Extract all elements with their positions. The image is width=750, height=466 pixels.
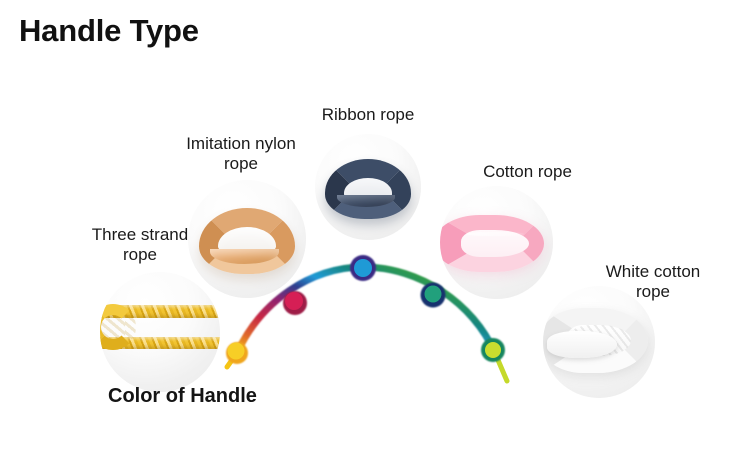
handle-color-arc — [215, 255, 535, 395]
label-line-1: White cotton — [578, 262, 728, 282]
color-node-crimson[interactable] — [283, 291, 307, 315]
label-ribbon-rope: Ribbon rope — [300, 105, 436, 125]
label-white-cotton-rope: White cotton rope — [578, 262, 728, 302]
handle-type-infographic: Handle Type Three strand rope Imitation … — [0, 0, 750, 466]
navy-ribbon-loop-graphic — [325, 159, 412, 218]
navy-ribbon-rope-photo — [315, 134, 421, 240]
color-node-teal[interactable] — [421, 283, 446, 308]
color-arc-svg — [215, 255, 535, 395]
white-cotton-rope-photo — [543, 286, 655, 398]
three-strand-gold-rope-photo — [100, 272, 220, 392]
page-title: Handle Type — [19, 14, 199, 48]
label-line-1: Cotton rope — [455, 162, 600, 182]
white-rope-core — [547, 331, 616, 358]
label-line-1: Ribbon rope — [300, 105, 436, 125]
color-node-yellow[interactable] — [226, 342, 248, 364]
label-cotton-rope: Cotton rope — [455, 162, 600, 182]
label-imitation-nylon-rope: Imitation nylon rope — [165, 134, 317, 174]
color-node-blue[interactable] — [350, 255, 376, 281]
label-line-1: Imitation nylon — [165, 134, 317, 154]
label-line-2: rope — [578, 282, 728, 302]
gold-twisted-rope-graphic — [100, 303, 220, 361]
section-caption-color-of-handle: Color of Handle — [108, 385, 257, 408]
label-line-2: rope — [165, 154, 317, 174]
color-node-lime[interactable] — [481, 338, 505, 362]
